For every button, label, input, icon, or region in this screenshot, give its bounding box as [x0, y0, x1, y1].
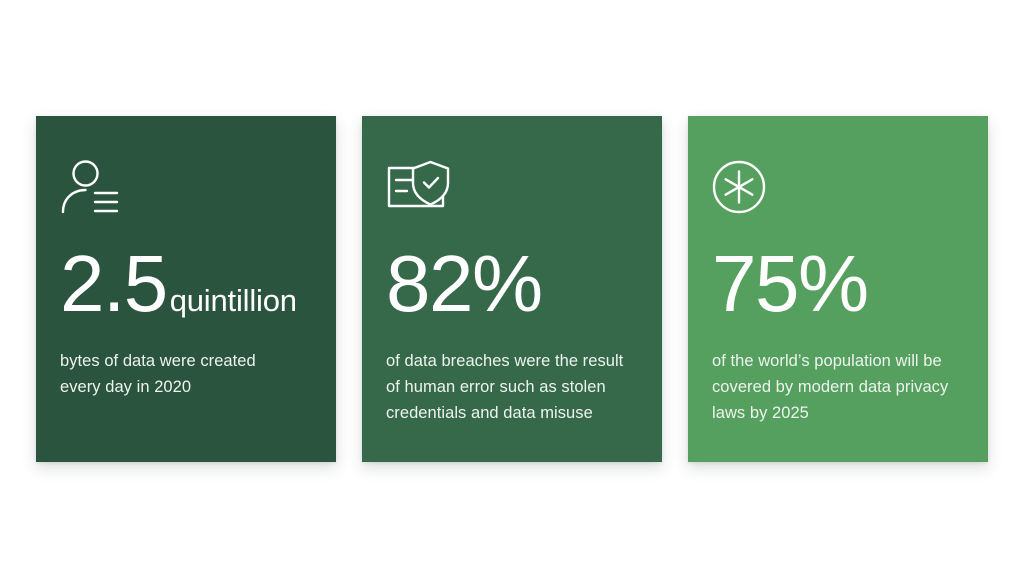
stat-value: 2.5 — [60, 244, 167, 324]
stat-description: bytes of data were created every day in … — [60, 348, 256, 400]
person-with-lines-icon — [60, 160, 122, 214]
asterisk-in-circle-icon — [712, 160, 768, 214]
stat-card-data-breaches: 82% of data breaches were the result of … — [362, 116, 662, 462]
stat-description-line: of data breaches were the result — [386, 348, 623, 374]
stat-description-line: of human error such as stolen — [386, 374, 623, 400]
stat-value: 75% — [712, 244, 868, 324]
stat-card-row: 2.5 quintillion bytes of data were creat… — [36, 116, 988, 462]
stat-card-privacy-laws: 75% of the world’s population will be co… — [688, 116, 988, 462]
stat-suffix: quintillion — [170, 285, 297, 316]
stat-description-line: every day in 2020 — [60, 374, 256, 400]
stat-headline: 82% — [386, 244, 545, 322]
card-with-shield-check-icon — [386, 160, 450, 214]
infographic-stage: 2.5 quintillion bytes of data were creat… — [0, 0, 1024, 576]
stat-card-quintillion-bytes: 2.5 quintillion bytes of data were creat… — [36, 116, 336, 462]
stat-description-line: credentials and data misuse — [386, 400, 623, 426]
stat-description: of data breaches were the result of huma… — [386, 348, 623, 426]
stat-description-line: laws by 2025 — [712, 400, 948, 426]
stat-description-line: covered by modern data privacy — [712, 374, 948, 400]
stat-description-line: bytes of data were created — [60, 348, 256, 374]
stat-description: of the world’s population will be covere… — [712, 348, 948, 426]
stat-headline: 75% — [712, 244, 871, 322]
stat-description-line: of the world’s population will be — [712, 348, 948, 374]
stat-headline: 2.5 quintillion — [60, 244, 297, 322]
stat-value: 82% — [386, 244, 542, 324]
